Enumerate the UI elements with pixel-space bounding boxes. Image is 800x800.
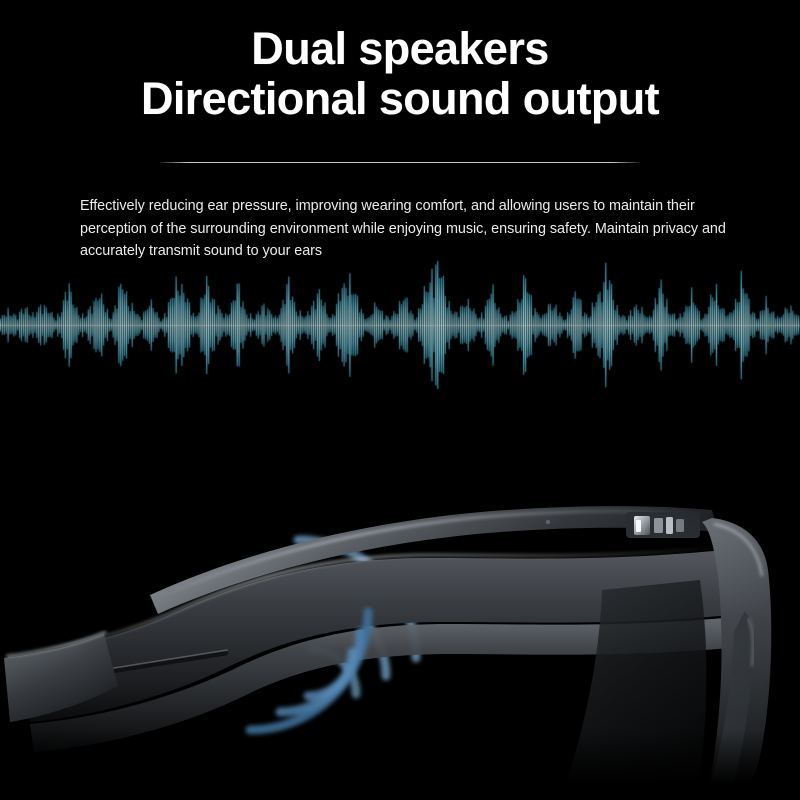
waveform-canvas — [0, 250, 800, 400]
headline-line-2: Directional sound output — [0, 76, 800, 122]
headline-line-1: Dual speakers — [0, 26, 800, 72]
divider-rule — [160, 162, 640, 163]
audio-waveform — [0, 250, 800, 400]
product-image — [0, 400, 800, 800]
marketing-slide: Dual speakers Directional sound output E… — [0, 0, 800, 800]
page-title: Dual speakers Directional sound output — [0, 26, 800, 122]
